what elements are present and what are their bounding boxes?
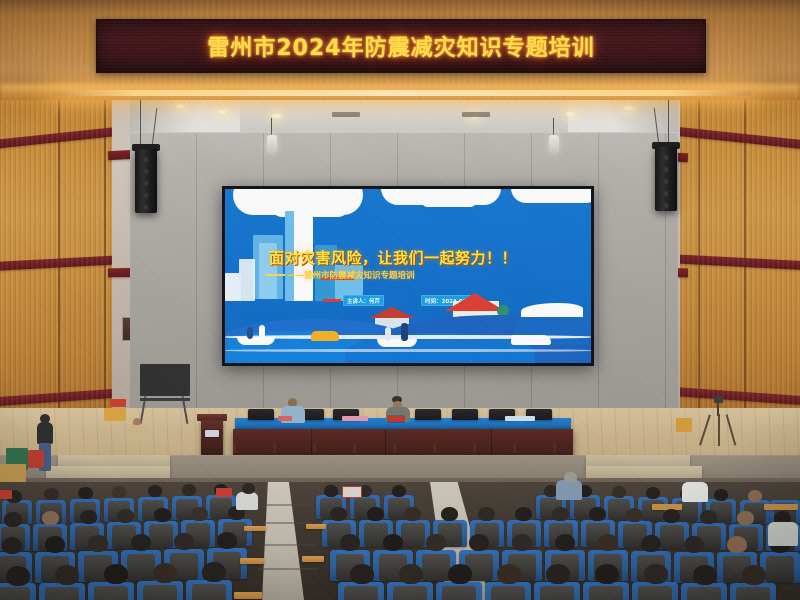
person-head — [646, 487, 660, 499]
person-head — [2, 537, 22, 554]
banner-title: 雷州市2024年防震减灾知识专题培训 — [207, 30, 594, 62]
stage-chair — [248, 409, 274, 420]
right-speaker-assembly — [648, 100, 688, 190]
person-head — [104, 564, 128, 584]
person-head — [693, 565, 717, 585]
person-head — [78, 487, 93, 499]
person-head — [644, 564, 668, 584]
building-shape — [225, 273, 241, 301]
person-head — [45, 536, 65, 553]
person-head — [426, 534, 446, 551]
person-head — [748, 490, 762, 502]
pendant-light-icon — [267, 135, 277, 153]
person-head — [55, 565, 79, 585]
rescuer-figure — [247, 327, 253, 339]
person-head — [546, 564, 570, 584]
line-array-speaker-icon — [655, 147, 677, 211]
person-torso — [682, 482, 708, 502]
left-speaker-assembly — [124, 100, 164, 190]
person-head — [478, 507, 495, 521]
person-head — [598, 534, 618, 551]
person-head — [191, 507, 208, 521]
person-head — [80, 510, 97, 524]
wall-accent-stripe — [670, 387, 800, 406]
person-head — [44, 488, 59, 500]
document-on-table — [342, 416, 368, 421]
desk-sign — [342, 486, 362, 498]
person-torso — [126, 425, 147, 442]
cloud-shape — [511, 189, 591, 203]
person-head — [217, 532, 237, 549]
person-torso — [768, 522, 798, 546]
floor-crate — [0, 464, 26, 482]
person-head — [641, 535, 661, 552]
person-head — [154, 508, 171, 522]
desk-sign — [0, 490, 12, 499]
person-head — [589, 507, 606, 521]
stage-sign — [110, 399, 126, 407]
floor-bucket — [28, 450, 44, 468]
stage-step — [586, 466, 702, 478]
stage-equipment-box — [104, 408, 126, 421]
wall-accent-stripe — [670, 126, 800, 151]
person-head — [330, 507, 347, 521]
person-head — [626, 508, 643, 522]
auditorium-scene: 雷州市2024年防震减灾知识专题培训 — [0, 0, 800, 600]
person-head — [612, 486, 626, 498]
led-display-screen: 面对灾害风险，让我们一起努力！！ ——雷州市防震减灾知识专题培训 主讲人：何芹 … — [222, 186, 594, 366]
house-roof-shape — [445, 293, 505, 311]
boat-shape — [511, 335, 551, 345]
person-head — [404, 507, 421, 521]
person-head — [383, 534, 403, 551]
cloud-shape — [421, 193, 477, 207]
right-pendant-assembly — [548, 118, 560, 158]
person-head — [202, 562, 226, 582]
document-on-table — [505, 416, 535, 421]
slide-content: 面对灾害风险，让我们一起努力！！ ——雷州市防震减灾知识专题培训 主讲人：何芹 … — [225, 189, 591, 363]
person-head — [182, 484, 196, 496]
person-head — [469, 534, 489, 551]
person-head — [737, 511, 754, 525]
line-array-speaker-icon — [135, 149, 157, 213]
person-head — [350, 564, 374, 584]
person-head — [448, 564, 472, 584]
person-head — [88, 535, 108, 552]
person-head — [441, 507, 458, 521]
rescuer-figure — [401, 323, 408, 341]
pendant-light-icon — [549, 135, 559, 153]
boat-shape — [237, 337, 275, 345]
person-head — [117, 509, 134, 523]
monitor-stand — [140, 364, 204, 428]
person-head — [148, 485, 162, 497]
person-head — [515, 507, 532, 521]
person-head — [727, 536, 747, 553]
recessed-downlight-icon — [218, 110, 227, 114]
stage-step — [46, 466, 170, 478]
person-head — [564, 472, 577, 483]
person-head — [42, 511, 59, 525]
camera-tripod-icon — [700, 396, 734, 448]
person-head — [392, 485, 406, 497]
car-shape — [311, 331, 339, 341]
rescuer-figure — [385, 327, 391, 341]
slide-title: 面对灾害风险，让我们一起努力！！ — [269, 247, 589, 268]
person-head — [131, 534, 151, 551]
wall-accent-stripe — [670, 254, 800, 271]
person-head — [112, 486, 126, 498]
building-shape — [239, 259, 255, 301]
person-head — [399, 564, 423, 584]
slide-subtitle-dash — [265, 274, 285, 276]
presenter-tag: 主讲人：何芹 — [343, 295, 384, 306]
person-torso — [37, 422, 53, 444]
wave-foam-line — [225, 349, 591, 352]
house-small-roof — [369, 307, 415, 318]
person-head — [714, 489, 728, 501]
desk-sign — [216, 488, 232, 497]
person-torso — [236, 492, 258, 510]
person-head — [324, 485, 338, 497]
stage-chair — [415, 409, 441, 420]
audience-heads-right — [300, 482, 800, 600]
person-head — [663, 509, 680, 523]
person-head — [595, 564, 619, 584]
person-head — [700, 510, 717, 524]
person-head — [4, 512, 22, 527]
person-head — [742, 565, 766, 585]
ceiling-vent — [462, 112, 490, 117]
left-pendant-assembly — [266, 118, 278, 158]
recessed-downlight-icon — [566, 112, 575, 116]
person-head — [497, 564, 521, 584]
slide-subtitle: ——雷州市防震减灾知识专题培训 — [287, 269, 415, 281]
person-head — [174, 533, 194, 550]
table-nameplate — [388, 416, 404, 422]
ceiling-vent — [332, 112, 360, 117]
podium-emblem-icon — [205, 430, 219, 437]
document-on-table — [278, 416, 292, 421]
rescuer-figure — [259, 325, 265, 339]
person-head — [242, 483, 255, 494]
boat-shape — [377, 339, 417, 347]
person-head — [552, 507, 569, 521]
cove-light-strip — [52, 90, 752, 96]
person-head — [512, 534, 532, 551]
led-banner: 雷州市2024年防震减灾知识专题培训 — [96, 19, 706, 73]
person-head — [684, 536, 704, 553]
stage-chair — [452, 409, 478, 420]
presenter-tag-label: 主讲人：何芹 — [347, 297, 380, 305]
stage-equipment-box — [676, 418, 692, 432]
person-torso — [556, 480, 582, 500]
person-head — [6, 566, 30, 586]
person-head — [555, 534, 575, 551]
crouching-person — [126, 418, 148, 444]
presenter-tag-accent — [323, 299, 341, 302]
person-head — [153, 563, 177, 583]
audience-heads-left — [0, 482, 270, 600]
wave-crest-foam — [521, 303, 583, 317]
person-head — [367, 507, 384, 521]
person-head — [340, 534, 360, 551]
